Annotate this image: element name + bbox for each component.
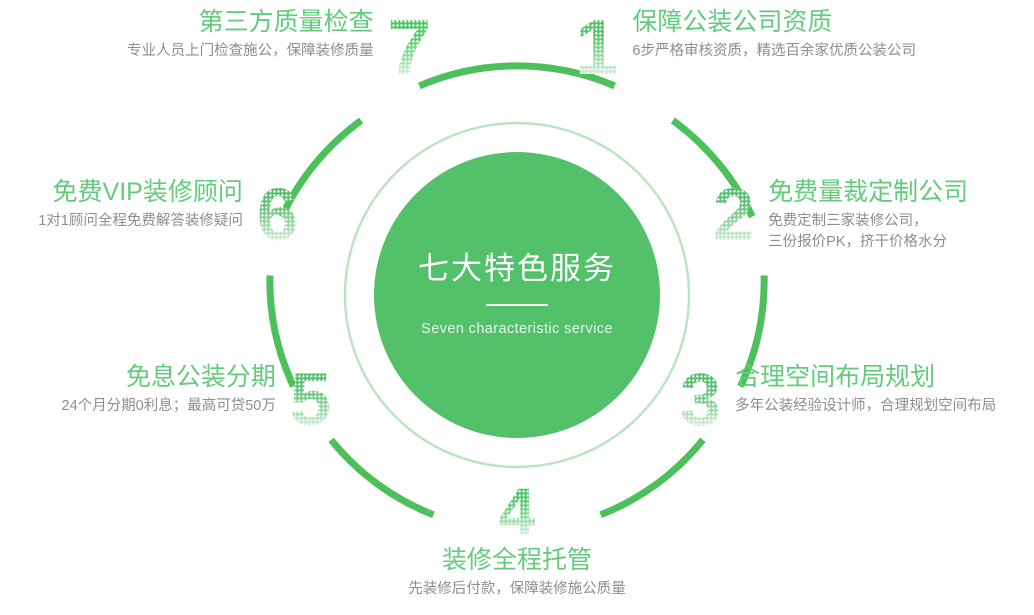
numeral-7: 7: [388, 8, 431, 86]
service-item-2-title: 免费量裁定制公司: [768, 178, 968, 208]
service-item-4[interactable]: 4 装修全程托管 先装修后付款，保障装修施公质量: [408, 478, 626, 600]
hub-title: 七大特色服务: [418, 253, 616, 284]
numeral-5: 5: [290, 363, 331, 437]
service-item-6-texts: 免费VIP装修顾问 1对1顾问全程免费解答装修疑问: [38, 178, 243, 232]
hub-divider: [486, 304, 548, 306]
service-item-3-desc-line-1: 多年公装经验设计师，合理规划空间布局: [735, 396, 996, 418]
hub-subtitle: Seven characteristic service: [421, 321, 613, 337]
service-item-1-texts: 保障公装公司资质 6步严格审核资质，精选百余家优质公装公司: [632, 8, 916, 62]
infographic-canvas: 七大特色服务 Seven characteristic service 1 保障…: [0, 0, 1034, 615]
service-item-7-title: 第三方质量检查: [199, 8, 374, 38]
numeral-2: 2: [713, 178, 754, 252]
service-item-5-texts: 免息公装分期 24个月分期0利息；最高可贷50万: [62, 363, 276, 417]
service-item-5-desc-line-1: 24个月分期0利息；最高可贷50万: [62, 396, 276, 418]
service-item-3-title: 合理空间布局规划: [735, 363, 935, 393]
numeral-4: 4: [499, 478, 536, 544]
service-item-6-title: 免费VIP装修顾问: [53, 178, 243, 208]
service-item-6-desc-line-1: 1对1顾问全程免费解答装修疑问: [38, 211, 243, 233]
numeral-6: 6: [257, 178, 298, 252]
service-item-5[interactable]: 免息公装分期 24个月分期0利息；最高可贷50万 5: [62, 363, 331, 437]
service-item-2-desc-line-1: 免费定制三家装修公司，: [768, 211, 928, 233]
service-item-2-texts: 免费量裁定制公司 免费定制三家装修公司， 三份报价PK，挤干价格水分: [768, 178, 968, 254]
service-item-1[interactable]: 1 保障公装公司资质 6步严格审核资质，精选百余家优质公装公司: [575, 8, 916, 86]
service-item-7-desc-line-1: 专业人员上门检查施公，保障装修质量: [127, 41, 374, 63]
service-item-4-title: 装修全程托管: [442, 546, 592, 576]
service-item-6[interactable]: 免费VIP装修顾问 1对1顾问全程免费解答装修疑问 6: [38, 178, 298, 252]
service-item-1-title: 保障公装公司资质: [632, 8, 832, 38]
numeral-1: 1: [575, 8, 618, 86]
service-item-3[interactable]: 3 合理空间布局规划 多年公装经验设计师，合理规划空间布局: [680, 363, 996, 437]
service-item-5-title: 免息公装分期: [126, 363, 276, 393]
service-item-3-texts: 合理空间布局规划 多年公装经验设计师，合理规划空间布局: [735, 363, 996, 417]
center-hub: 七大特色服务 Seven characteristic service: [374, 152, 660, 438]
service-item-2[interactable]: 2 免费量裁定制公司 免费定制三家装修公司， 三份报价PK，挤干价格水分: [713, 178, 968, 254]
service-item-7[interactable]: 第三方质量检查 专业人员上门检查施公，保障装修质量 7: [127, 8, 431, 86]
service-item-1-desc-line-1: 6步严格审核资质，精选百余家优质公装公司: [632, 41, 916, 63]
numeral-3: 3: [680, 363, 721, 437]
service-item-4-desc-line-1: 先装修后付款，保障装修施公质量: [408, 579, 626, 601]
service-item-4-texts: 装修全程托管 先装修后付款，保障装修施公质量: [408, 546, 626, 600]
service-item-2-desc-line-2: 三份报价PK，挤干价格水分: [768, 232, 947, 254]
service-item-7-texts: 第三方质量检查 专业人员上门检查施公，保障装修质量: [127, 8, 374, 62]
